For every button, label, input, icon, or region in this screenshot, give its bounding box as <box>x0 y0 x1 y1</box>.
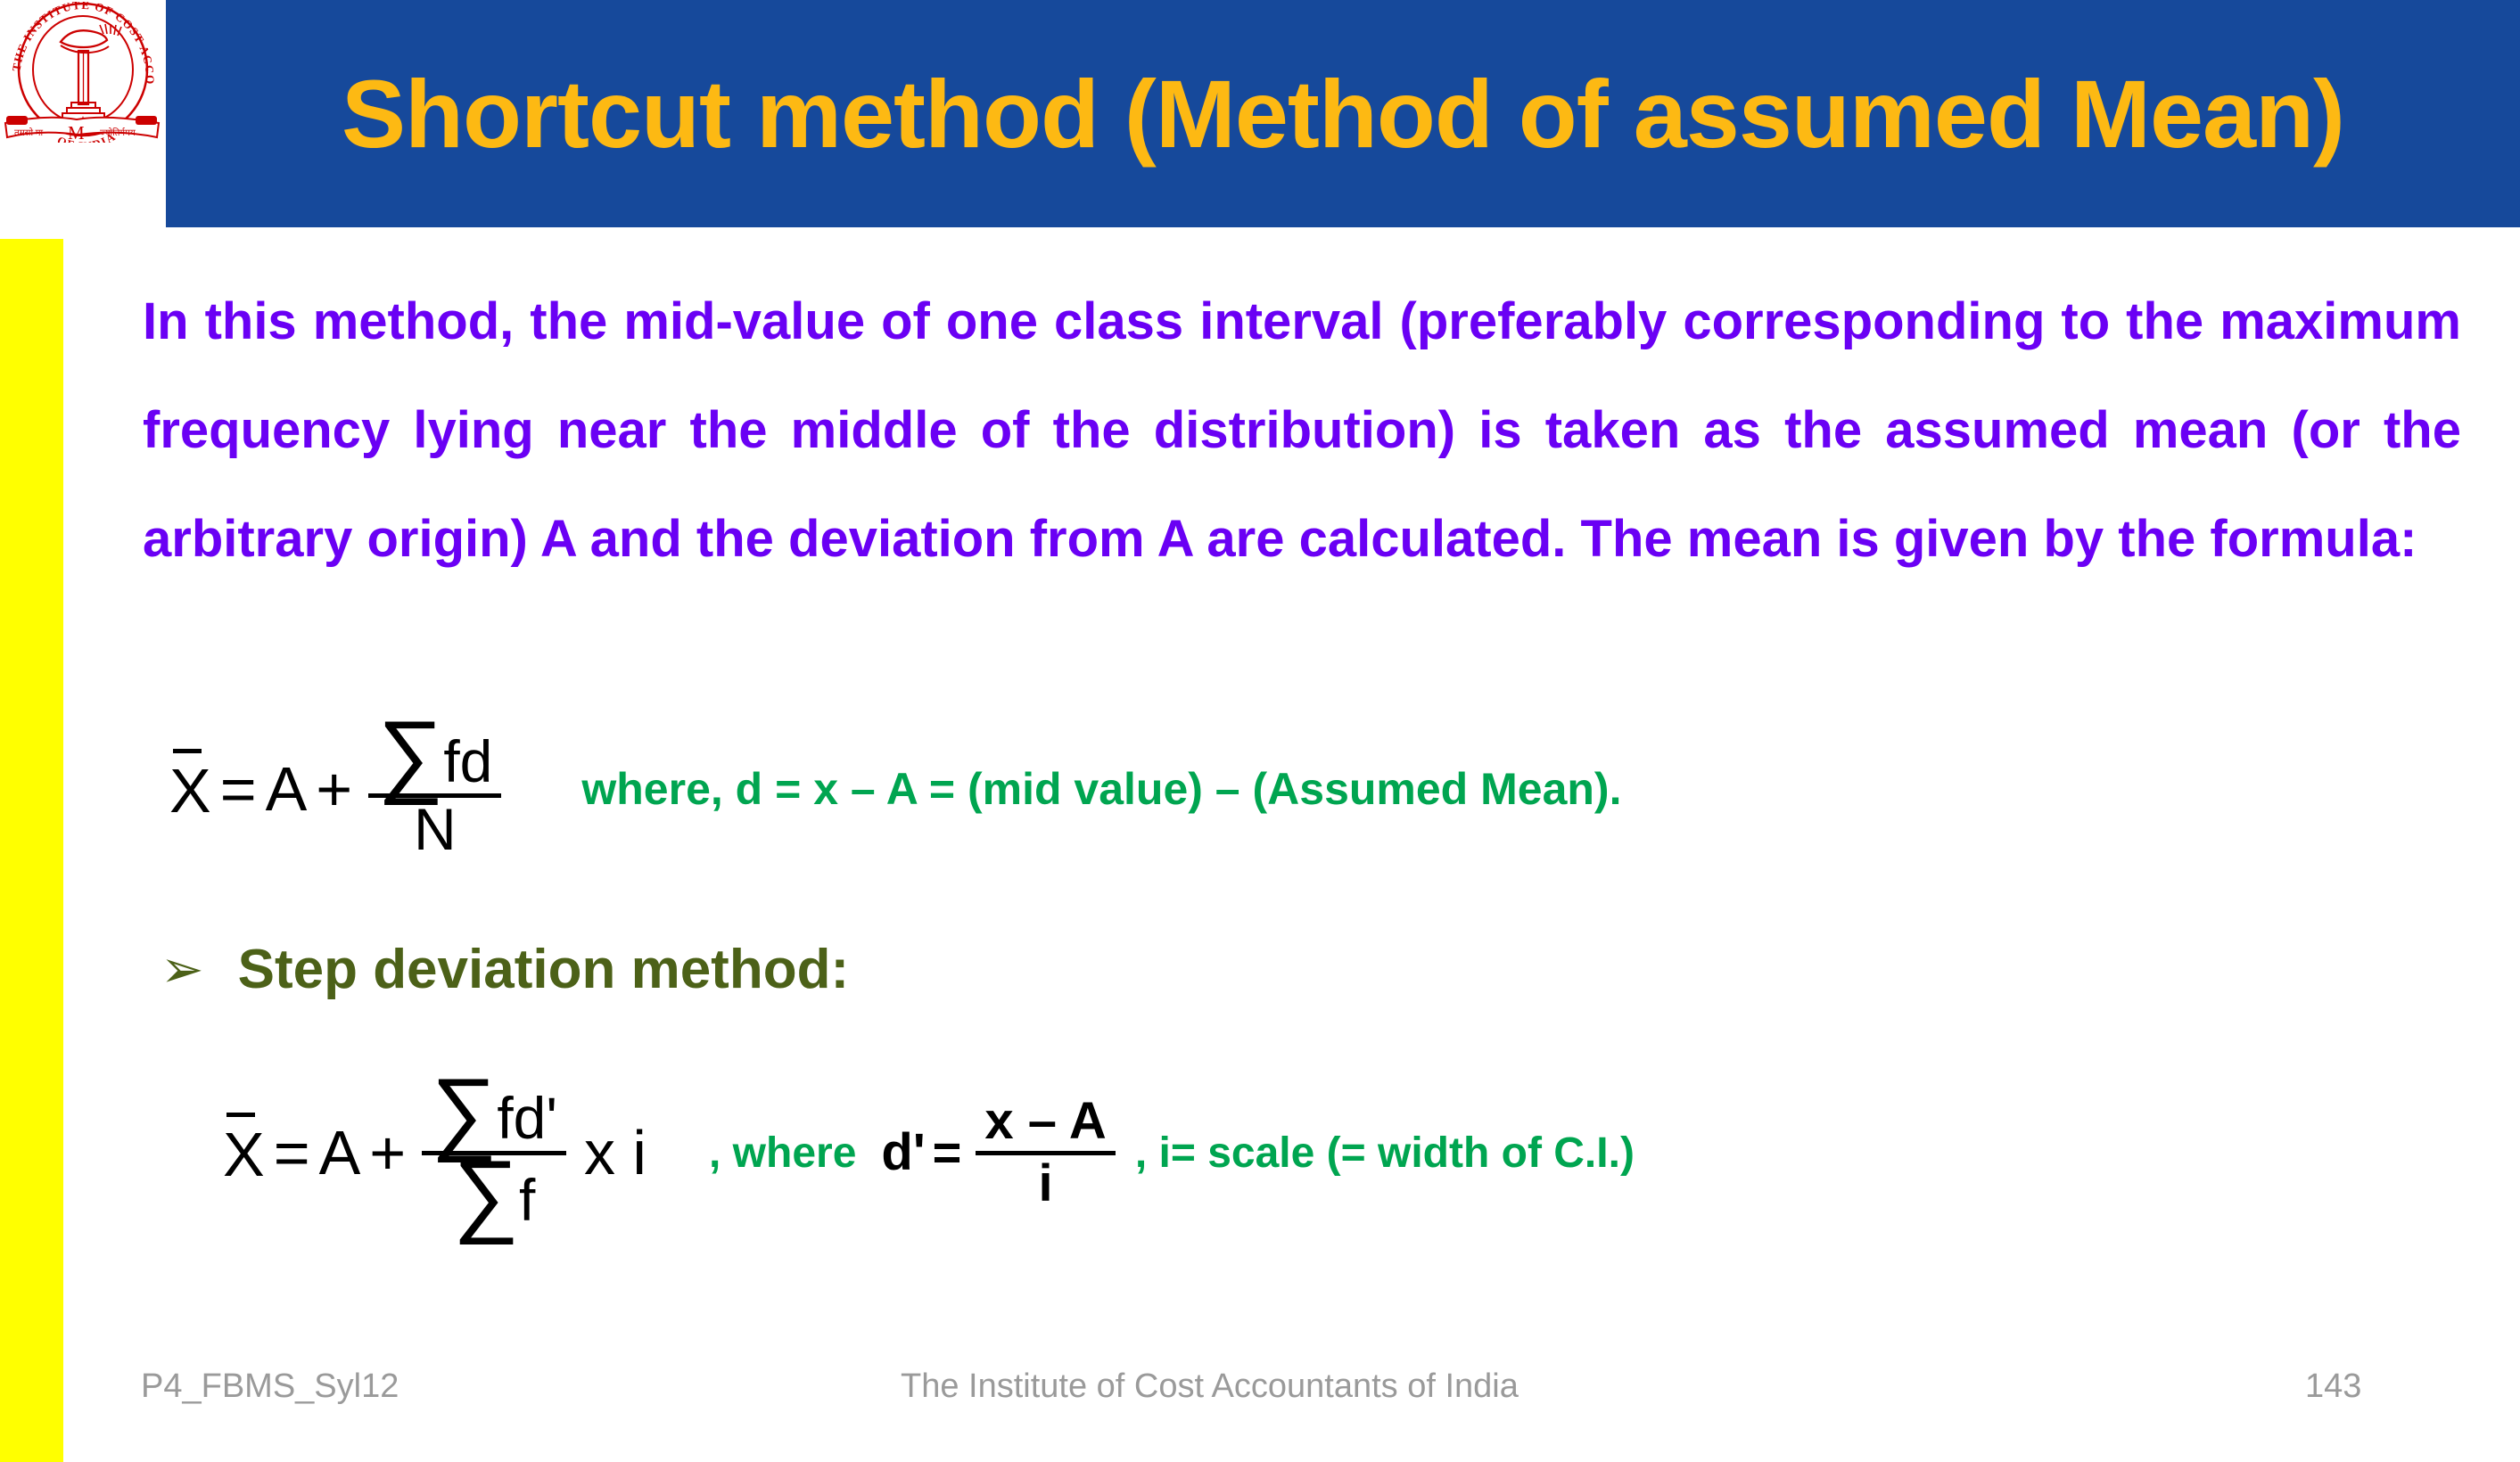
page-title: Shortcut method (Method of assumed Mean) <box>166 0 2520 227</box>
dprime-equals-sign: = <box>933 1128 962 1178</box>
numerator-terms: fd <box>443 735 492 788</box>
dprime-symbol: d' <box>881 1129 925 1176</box>
arrow-bullet-icon: ➢ <box>161 944 204 996</box>
svg-text:ज्योतिर्गमय: ज्योतिर्गमय <box>100 127 136 138</box>
dprime-denominator: i <box>1030 1161 1062 1207</box>
dprime-numerator-text: x – A <box>984 1098 1106 1145</box>
step-deviation-note: , where d' = x – A i , i= scale (= width… <box>709 1098 1635 1206</box>
fraction-sum-fdprime-over-sum-f: ∑fd' ∑f <box>422 1079 566 1228</box>
denominator-terms-2: f <box>519 1174 535 1227</box>
mean-formula: X = A + ∑fd N <box>169 721 508 856</box>
fraction-numerator: ∑fd <box>368 721 501 788</box>
equals-sign-2: = <box>274 1121 310 1184</box>
times-scale-term: x i <box>584 1121 646 1184</box>
plus-sign-2: + <box>369 1121 406 1184</box>
fraction-numerator-2: ∑fd' <box>422 1079 566 1146</box>
slide-footer: P4_FBMS_Syl12 The Institute of Cost Acco… <box>0 1364 2520 1426</box>
fraction-sum-fd-over-N: ∑fd N <box>368 721 501 856</box>
dprime-denominator-text: i <box>1039 1161 1053 1207</box>
mean-formula-row: X = A + ∑fd N where, d = x – A = (mid va… <box>169 695 1621 883</box>
footer-page-number: 143 <box>2305 1368 2361 1406</box>
sigma-icon-num: ∑ <box>431 1079 497 1146</box>
left-accent-strip <box>0 239 63 1462</box>
intro-paragraph: In this method, the mid-value of one cla… <box>143 267 2461 594</box>
equals-sign: = <box>220 758 257 820</box>
slide: Shortcut method (Method of assumed Mean)… <box>0 0 2520 1462</box>
mean-formula-note: where, d = x – A = (mid value) – (Assume… <box>581 763 1621 815</box>
note-lead-text: , where <box>709 1129 856 1178</box>
assumed-mean-A-2: A <box>319 1121 361 1184</box>
step-deviation-label: Step deviation method: <box>238 938 849 1001</box>
plus-sign: + <box>316 758 352 820</box>
fraction-denominator-2: ∑f <box>444 1161 544 1228</box>
institute-logo: THE INSTITUTE OF COST ACCOUNTANTS OF IND… <box>4 2 162 143</box>
svg-text:THE INSTITUTE OF COST ACCOUNTA: THE INSTITUTE OF COST ACCOUNTANTS <box>4 2 157 85</box>
step-deviation-formula-row: X = A + ∑fd' ∑f x i , where d' = <box>223 1041 1635 1264</box>
note-tail-text: , i= scale (= width of C.I.) <box>1135 1129 1635 1178</box>
overbar <box>173 749 202 753</box>
svg-text:M: M <box>68 122 85 143</box>
sigma-icon: ∑ <box>377 721 443 788</box>
assumed-mean-A: A <box>266 758 308 820</box>
dprime-definition: d' = x – A i <box>881 1098 1122 1206</box>
numerator-terms-2: fd' <box>497 1092 557 1145</box>
dprime-numerator: x – A <box>976 1098 1115 1145</box>
sigma-icon-den: ∑ <box>453 1161 519 1228</box>
footer-institute-name: The Institute of Cost Accountants of Ind… <box>901 1368 1519 1406</box>
x-bar-symbol-2: X <box>223 1120 265 1186</box>
overbar-2 <box>226 1113 255 1117</box>
step-deviation-formula: X = A + ∑fd' ∑f x i <box>223 1079 646 1228</box>
x-bar-symbol: X <box>169 756 211 822</box>
step-deviation-bullet: ➢ Step deviation method: <box>161 938 849 1001</box>
fraction-denominator: N <box>405 803 465 856</box>
body-content: In this method, the mid-value of one cla… <box>143 267 2470 594</box>
svg-text:तमसो मा: तमसो मा <box>14 127 44 138</box>
footer-course-code: P4_FBMS_Syl12 <box>141 1368 399 1406</box>
denominator-term: N <box>414 803 457 856</box>
fraction-x-minus-A-over-i: x – A i <box>976 1098 1115 1206</box>
